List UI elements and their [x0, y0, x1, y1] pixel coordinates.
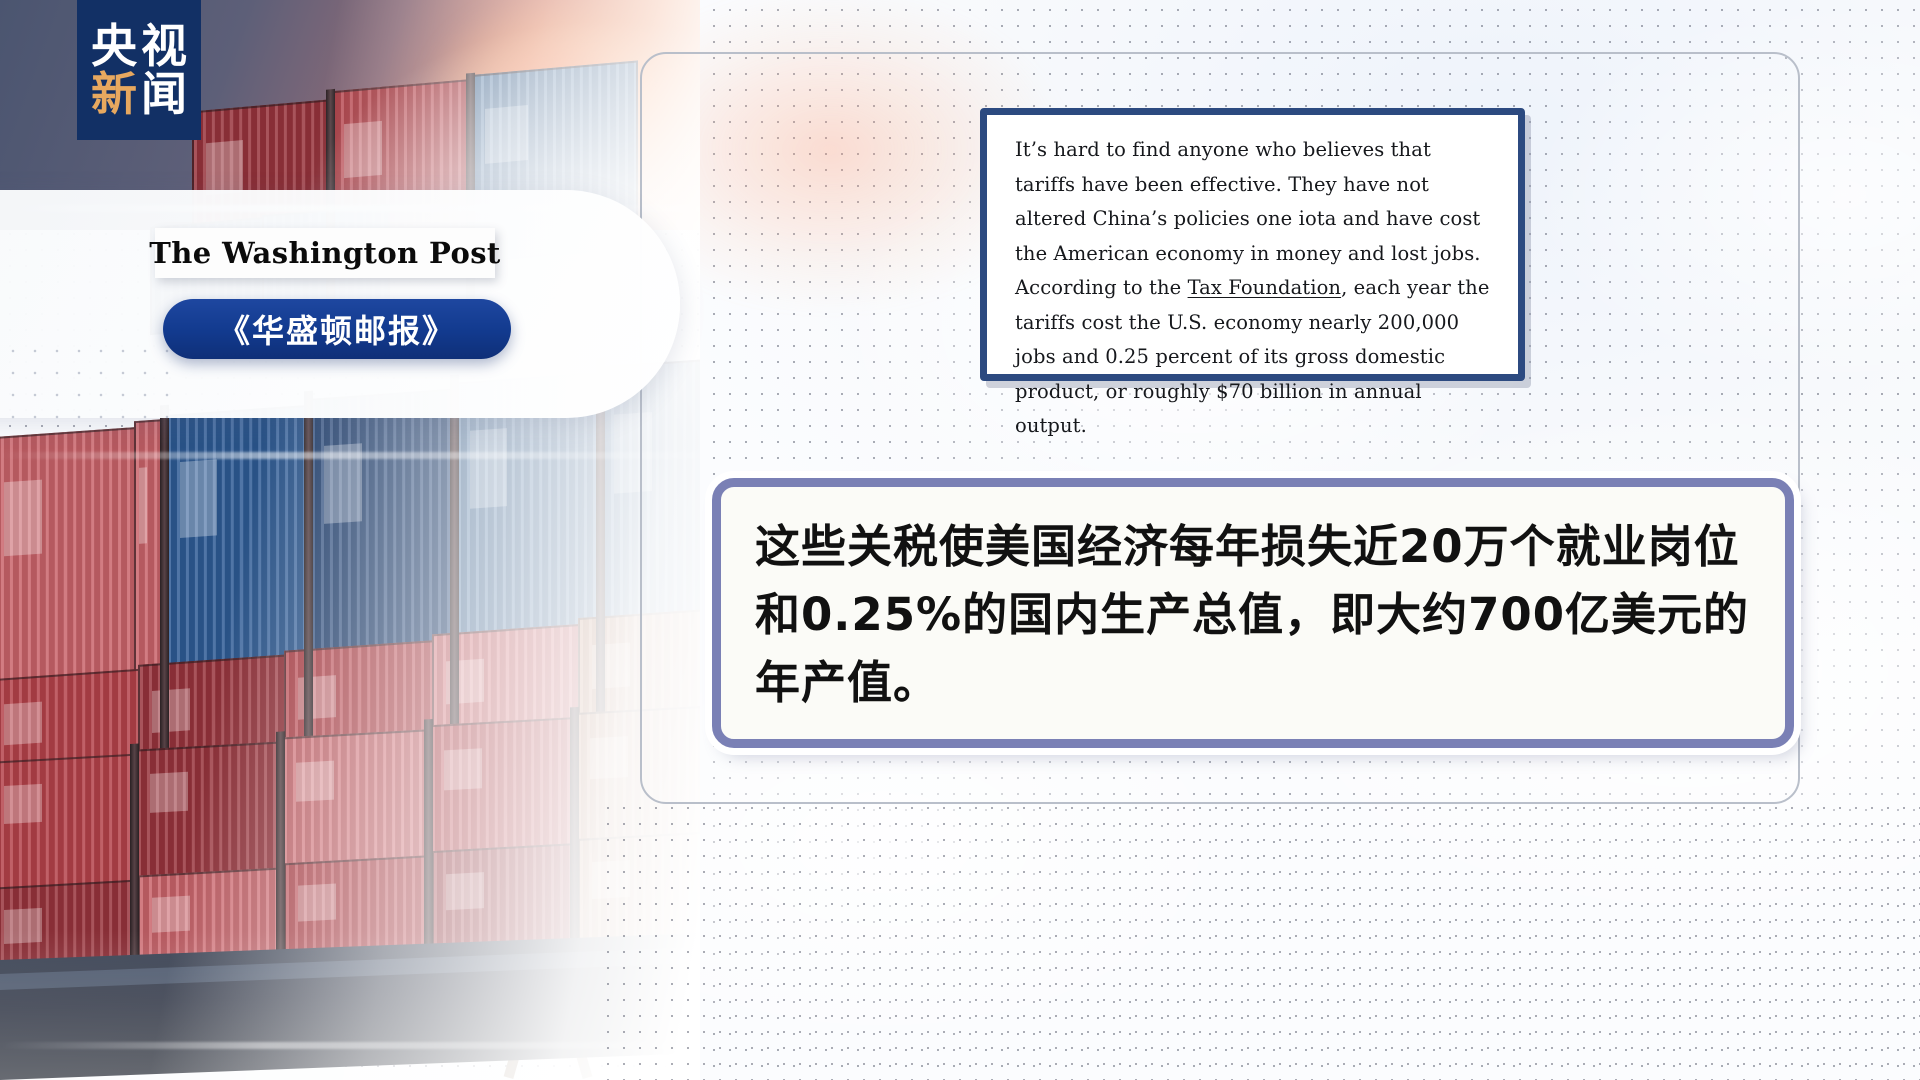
quote-en-part1: It’s hard to find anyone who believes th… [1015, 138, 1481, 299]
logo-char-shi: 视 [141, 23, 187, 69]
logo-row-top: 央 视 [91, 23, 187, 69]
english-quote-box: It’s hard to find anyone who believes th… [980, 108, 1525, 381]
logo-char-wen: 闻 [141, 71, 187, 117]
washington-post-chinese-pill: 《华盛顿邮报》 [163, 299, 511, 359]
quote-en-part2: , each year the tariffs cost the U.S. ec… [1015, 276, 1489, 437]
brand-card-dots [0, 340, 180, 430]
logo-char-yang: 央 [91, 23, 137, 69]
slide-canvas: 央 视 新 闻 The Washington Post 《华盛顿邮报》 It’s… [0, 0, 1920, 1080]
masthead-chinese-text: 《华盛顿邮报》 [218, 306, 456, 352]
logo-char-xin: 新 [91, 71, 137, 117]
english-quote-text: It’s hard to find anyone who believes th… [1015, 133, 1496, 444]
chinese-translation-text: 这些关税使美国经济每年损失近20万个就业岗位和0.25%的国内生产总值，即大约7… [755, 513, 1751, 717]
bottom-dot-grid [600, 800, 1920, 1080]
container-ship-photo [0, 0, 700, 1080]
masthead-text: The Washington Post [149, 236, 500, 270]
chinese-translation-box: 这些关税使美国经济每年损失近20万个就业岗位和0.25%的国内生产总值，即大约7… [712, 478, 1794, 748]
photo-haze-overlay [0, 0, 700, 1080]
tax-foundation-link[interactable]: Tax Foundation [1188, 276, 1342, 299]
cctv-news-logo: 央 视 新 闻 [77, 0, 201, 140]
washington-post-masthead: The Washington Post [155, 228, 495, 278]
logo-row-bottom: 新 闻 [91, 71, 187, 117]
